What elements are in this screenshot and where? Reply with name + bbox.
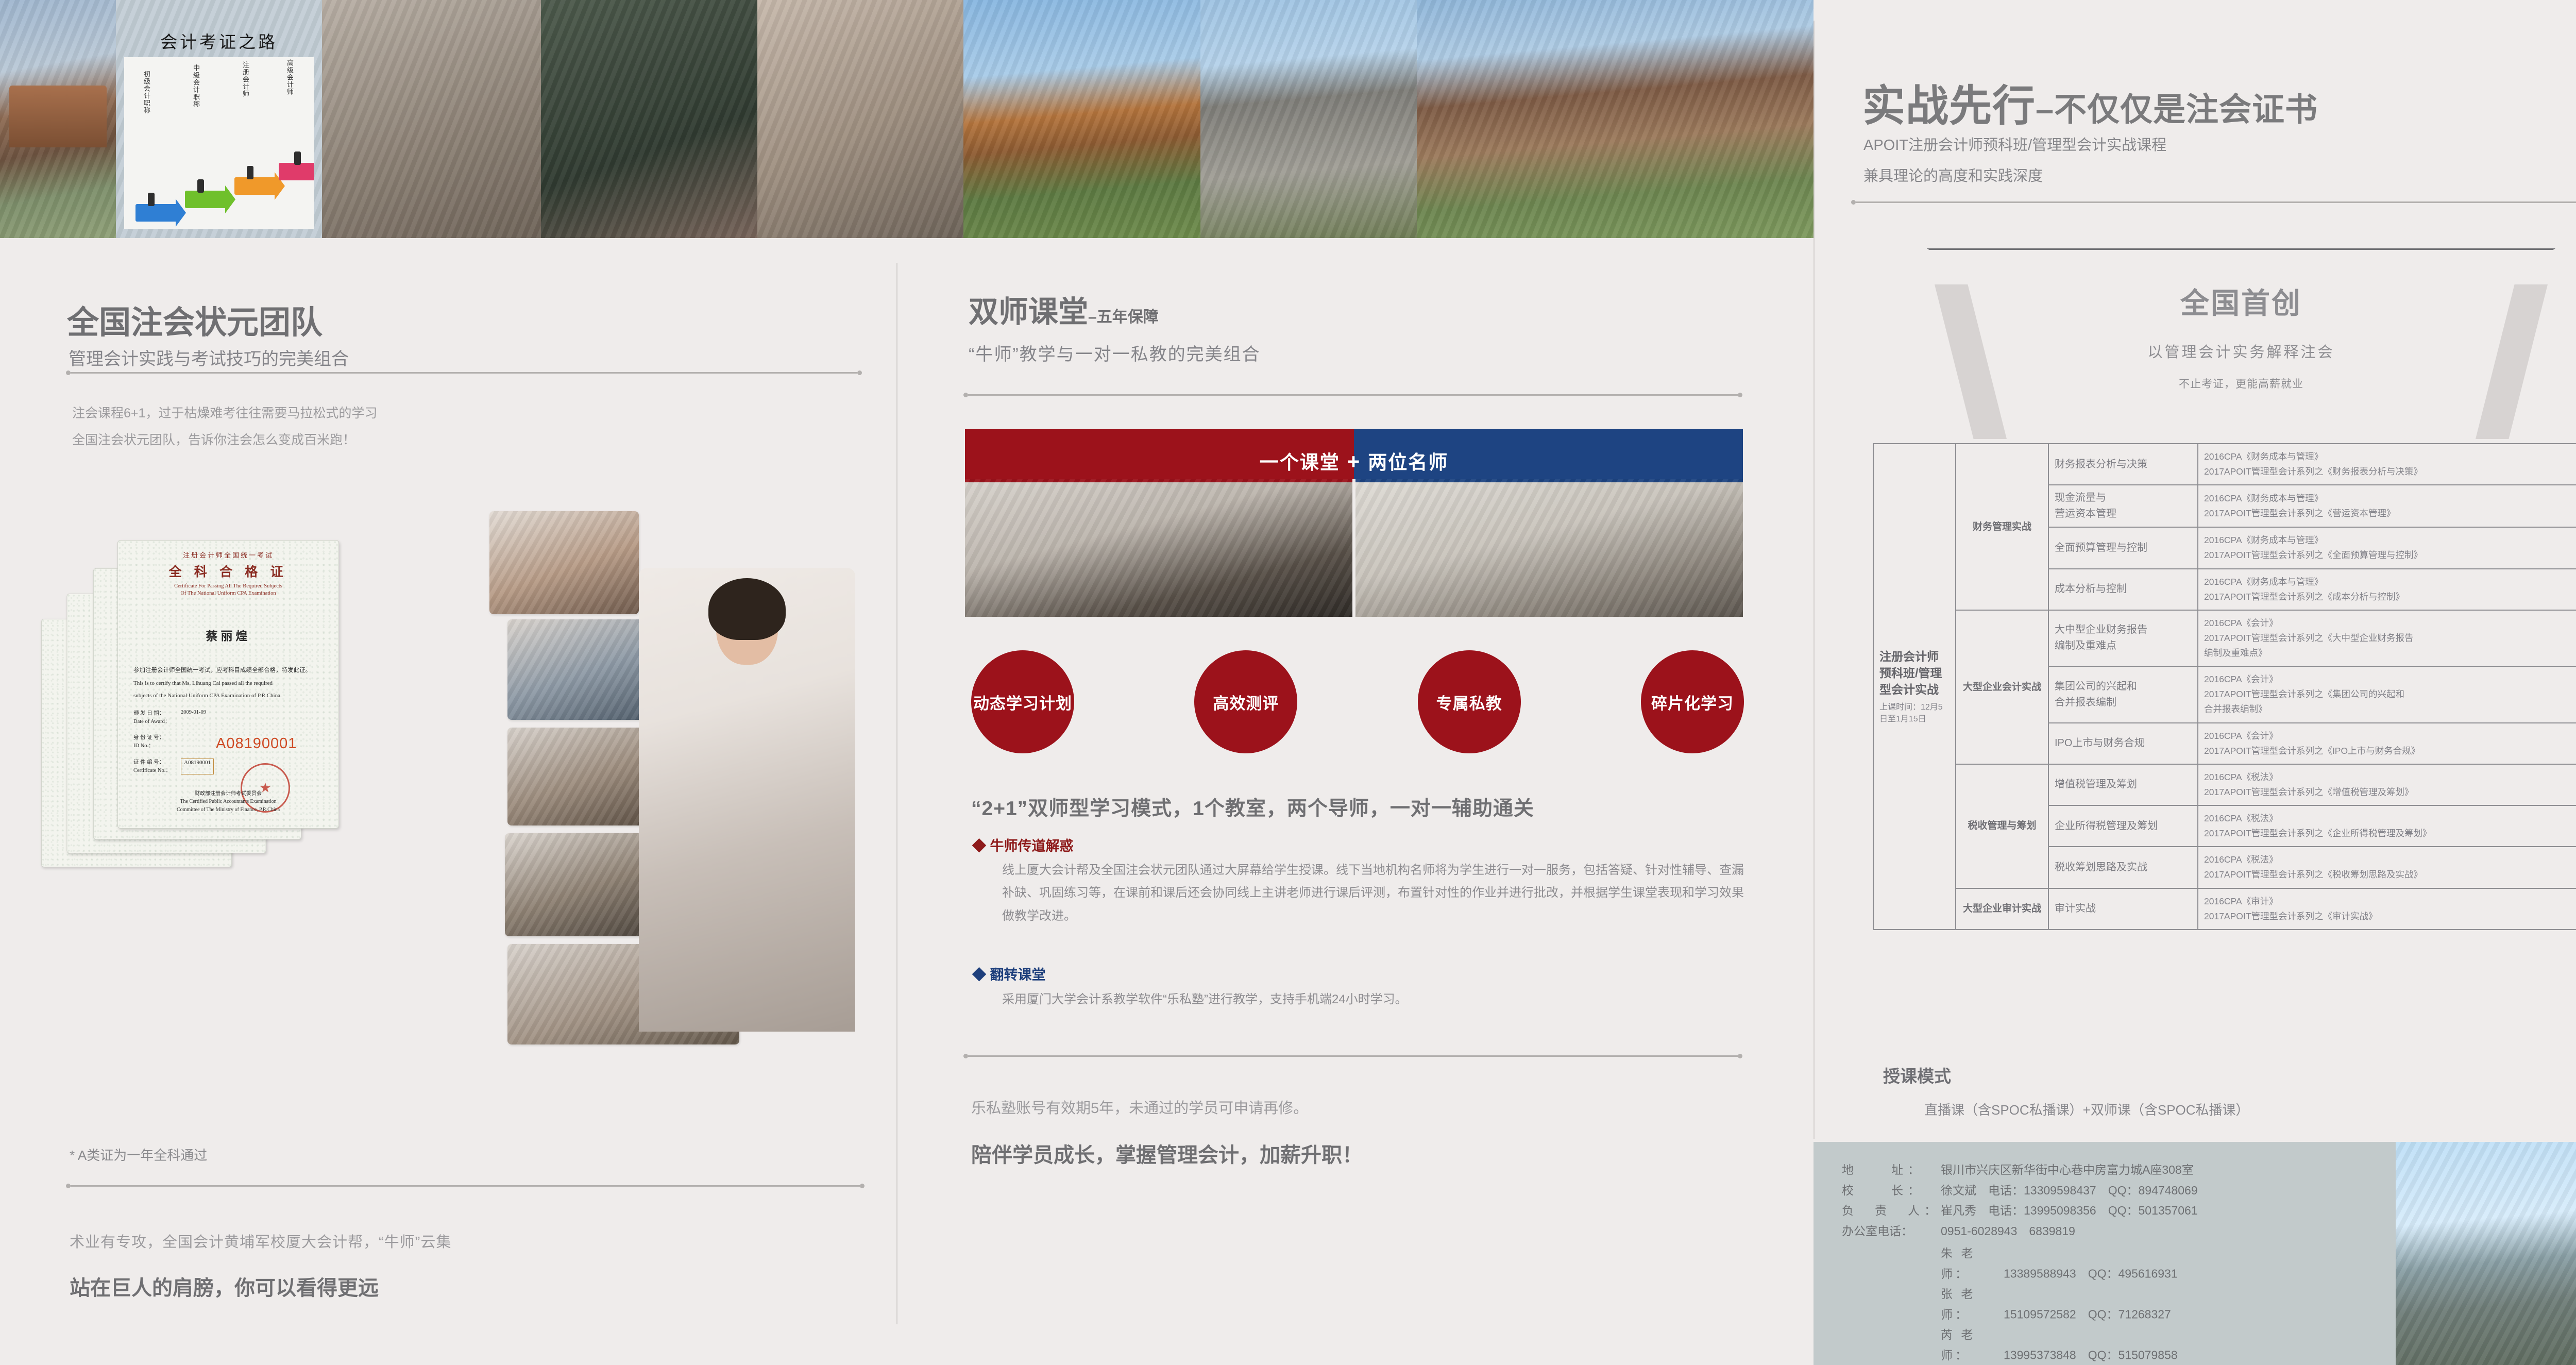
reference-cell: 2016CPA《税法》 2017APOIT管理型会计系列之《企业所得税管理及筹划… bbox=[2198, 805, 2576, 847]
cert-header-en-2: Of The National Uniform CPA Examination bbox=[118, 590, 338, 597]
feature-circle-2: 高效测评 bbox=[1194, 650, 1297, 753]
cert-footer-cn: 财政部注册会计师考试委员会 bbox=[118, 790, 338, 798]
teacher-name: 张 老 师： bbox=[1941, 1284, 2004, 1325]
reference-line: 2016CPA《财务成本与管理》 bbox=[2204, 533, 2576, 547]
cert-header-cn: 注册会计师全国统一考试 bbox=[118, 550, 338, 560]
cert-holder-name: 蔡丽煌 bbox=[118, 626, 338, 644]
topic-cell: 现金流量与 营运资本管理 bbox=[2048, 485, 2198, 527]
funnel-title: 全国首创 bbox=[1891, 280, 2576, 322]
divider-dot-left bbox=[1851, 200, 1856, 205]
table-row: 大型企业审计实战 审计实战 2016CPA《审计》 2017APOIT管理型会计… bbox=[1873, 888, 2576, 930]
classroom-video-right bbox=[1355, 479, 1743, 617]
photo-career-path: 会计考证之路 初级会计职称 中级会计职称 注册会计师 高级会计师 一览众山小 bbox=[116, 0, 322, 238]
runner-figure-2 bbox=[197, 179, 204, 193]
banner-text-left: 一个课堂 bbox=[1260, 452, 1340, 473]
reference-line: 2016CPA《会计》 bbox=[2204, 672, 2576, 686]
middle-title-main: 双师课堂 bbox=[969, 295, 1088, 329]
photo-classroom-1 bbox=[322, 0, 541, 238]
contact-value-manager: 崔凡秀 电话：13995098356 QQ：501357061 bbox=[1941, 1201, 2198, 1221]
reference-line: 2016CPA《财务成本与管理》 bbox=[2204, 450, 2576, 464]
reference-line: 2017APOIT管理型会计系列之《成本分析与控制》 bbox=[2204, 590, 2576, 604]
divider-dot-right bbox=[1738, 393, 1742, 397]
contact-value-principal: 徐文斌 电话：13309598437 QQ：894748069 bbox=[1941, 1181, 2198, 1201]
middle-lead-text: “2+1”双师型学习模式，1个教室，两个导师，一对一辅助通关 bbox=[971, 793, 1534, 821]
topic-cell: 全面预算管理与控制 bbox=[2048, 527, 2198, 568]
topic-line: 营运资本管理 bbox=[2055, 506, 2192, 522]
teacher-photo-2 bbox=[507, 619, 644, 720]
cert-footer-en-2: Committee of The Ministry of Finance, P.… bbox=[118, 806, 338, 814]
cert-id-number: A08190001 bbox=[216, 735, 297, 752]
cert-title-cn: 全 科 合 格 证 bbox=[118, 562, 338, 580]
cert-date-value: 2009-01-09 bbox=[181, 710, 206, 726]
topic-cell: 审计实战 bbox=[2048, 888, 2198, 930]
cert-date-label-en: Date of Award： bbox=[133, 719, 170, 724]
cert-date-field: 颁 发 日 期： Date of Award： 2009-01-09 bbox=[133, 710, 323, 726]
reference-line: 2017APOIT管理型会计系列之《增值税管理及筹划》 bbox=[2204, 785, 2576, 799]
divider-dot-right bbox=[860, 1184, 865, 1188]
divider-dot-left bbox=[963, 393, 968, 397]
reference-line: 2016CPA《财务成本与管理》 bbox=[2204, 575, 2576, 589]
topic-cell: 大中型企业财务报告 编制及重难点 bbox=[2048, 610, 2198, 666]
cert-no-labels: 证 件 编 号： Certificate No.： bbox=[133, 759, 181, 775]
headline: 实战先行–不仅仅是注会证书 bbox=[1862, 71, 2318, 133]
cert-date-label-cn: 颁 发 日 期： bbox=[133, 711, 164, 716]
divider-dot-left bbox=[963, 1054, 968, 1058]
teacher-photo-4 bbox=[505, 833, 644, 936]
video-accent-bar bbox=[1355, 479, 1743, 482]
teacher-photo-1 bbox=[489, 511, 639, 614]
reference-line: 2017APOIT管理型会计系列之《税收筹划思路及实战》 bbox=[2204, 868, 2576, 882]
course-table: 注册会计师预科班/管理型会计实战 上课时间：12月5日至1月15日 财务管理实战… bbox=[1873, 443, 2576, 930]
contact-block: 地 址： 银川市兴庆区新华街中心巷中房富力城A座308室 校 长： 徐文斌 电话… bbox=[1814, 1142, 2396, 1365]
reference-line: 合并报表编制》 bbox=[2204, 702, 2576, 716]
headline-line-1: APOIT注册会计师预科班/管理型会计实战课程 bbox=[1863, 133, 2166, 155]
reference-cell: 2016CPA《税法》 2017APOIT管理型会计系列之《增值税管理及筹划》 bbox=[2198, 764, 2576, 805]
top-photo-banner: 会计考证之路 初级会计职称 中级会计职称 注册会计师 高级会计师 一览众山小 bbox=[0, 0, 1814, 238]
certificate-front: 注册会计师全国统一考试 全 科 合 格 证 Certificate For Pa… bbox=[117, 540, 339, 829]
divider-dot-right bbox=[1738, 1054, 1742, 1058]
funnel-line-1: 以管理会计实务解释注会 bbox=[1891, 340, 2576, 362]
divider-left-bottom bbox=[66, 1184, 865, 1188]
career-path-title: 会计考证之路 bbox=[116, 0, 322, 57]
topic-line: 编制及重难点 bbox=[2055, 638, 2192, 654]
table-row: 注册会计师预科班/管理型会计实战 上课时间：12月5日至1月15日 财务管理实战… bbox=[1873, 444, 2576, 485]
banner-text-right: 两位名师 bbox=[1368, 452, 1448, 473]
reference-cell: 2016CPA《税法》 2017APOIT管理型会计系列之《税收筹划思路及实战》 bbox=[2198, 847, 2576, 888]
bullet-body-2: 采用厦门大学会计系教学软件“乐私塾”进行教学，支持手机端24小时学习。 bbox=[1002, 988, 1744, 1011]
cert-date-labels: 颁 发 日 期： Date of Award： bbox=[133, 710, 181, 726]
bullet-body-1: 线上厦大会计帮及全国注会状元团队通过大屏幕给学生授课。线下当地机构名师将为学生进… bbox=[1002, 859, 1744, 928]
contact-row-address: 地 址： 银川市兴庆区新华街中心巷中房富力城A座308室 bbox=[1842, 1160, 2396, 1181]
cert-no-label-en: Certificate No.： bbox=[133, 768, 171, 773]
reference-line: 2016CPA《税法》 bbox=[2204, 770, 2576, 784]
reference-cell: 2016CPA《财务成本与管理》 2017APOIT管理型会计系列之《营运资本管… bbox=[2198, 485, 2576, 527]
left-title: 全国注会状元团队 bbox=[67, 296, 323, 343]
contact-value-office: 0951-6028943 6839819 bbox=[1941, 1221, 2075, 1242]
reference-line: 2016CPA《审计》 bbox=[2204, 895, 2576, 908]
photo-classroom-3 bbox=[757, 0, 963, 238]
contact-label-manager: 负 责 人： bbox=[1842, 1201, 1941, 1221]
funnel-graphic: 全国首创 以管理会计实务解释注会 不止考证，更能高薪就业 bbox=[1891, 248, 2576, 465]
teacher-contact: 13389588943 QQ：495616931 bbox=[2004, 1267, 2178, 1280]
topic-cell: 成本分析与控制 bbox=[2048, 569, 2198, 610]
runner-figure-3 bbox=[247, 166, 253, 179]
headline-sub: –不仅仅是注会证书 bbox=[2036, 92, 2318, 128]
reference-line: 2016CPA《财务成本与管理》 bbox=[2204, 492, 2576, 505]
career-path-graphic: 初级会计职称 中级会计职称 注册会计师 高级会计师 一览众山小 bbox=[124, 57, 314, 229]
reference-line: 2017APOIT管理型会计系列之《大中型企业财务报告 bbox=[2204, 631, 2576, 645]
cert-body-cn: 参加注册会计师全国统一考试，应考科目成绩全部合格，特发此证。 bbox=[133, 665, 323, 677]
teacher-photo-collage bbox=[330, 511, 850, 1068]
category-cell-4: 大型企业审计实战 bbox=[1956, 888, 2048, 930]
teacher-contact: 15109572582 QQ：71268327 bbox=[2004, 1308, 2171, 1321]
reference-cell: 2016CPA《财务成本与管理》 2017APOIT管理型会计系列之《财务报表分… bbox=[2198, 444, 2576, 485]
cert-footer: 财政部注册会计师考试委员会 The Certified Public Accou… bbox=[118, 790, 338, 814]
middle-title: 双师课堂–五年保障 bbox=[969, 288, 1159, 331]
program-cell: 注册会计师预科班/管理型会计实战 上课时间：12月5日至1月15日 bbox=[1873, 444, 1956, 930]
topic-cell: 企业所得税管理及筹划 bbox=[2048, 805, 2198, 847]
photo-stairs bbox=[1200, 0, 1417, 238]
career-step-label-3: 注册会计师 bbox=[241, 61, 250, 97]
reference-line: 2016CPA《会计》 bbox=[2204, 616, 2576, 630]
cert-id-label-cn: 身 份 证 号： bbox=[133, 735, 164, 740]
teacher-name: 朱 老 师： bbox=[1941, 1243, 2004, 1284]
runner-figure-1 bbox=[148, 193, 155, 206]
runner-figure-4 bbox=[294, 151, 301, 165]
course-table-body: 注册会计师预科班/管理型会计实战 上课时间：12月5日至1月15日 财务管理实战… bbox=[1873, 444, 2576, 930]
cert-id-labels: 身 份 证 号： ID No.： bbox=[133, 734, 181, 750]
middle-paragraph-2: 乐私塾账号有效期5年，未通过的学员可申请再修。 bbox=[971, 1096, 1308, 1118]
career-step-label-4: 高级会计师 bbox=[285, 59, 295, 95]
reference-line: 2017APOIT管理型会计系列之《企业所得税管理及筹划》 bbox=[2204, 827, 2576, 840]
left-paragraph-1: 注会课程6+1，过于枯燥难考往往需要马拉松式的学习 bbox=[72, 403, 377, 422]
contact-row-manager: 负 责 人： 崔凡秀 电话：13995098356 QQ：501357061 bbox=[1842, 1201, 2396, 1221]
video-accent-bar bbox=[965, 479, 1352, 482]
reference-cell: 2016CPA《审计》 2017APOIT管理型会计系列之《审计实战》 bbox=[2198, 888, 2576, 930]
program-name: 注册会计师预科班/管理型会计实战 bbox=[1879, 650, 1942, 696]
table-row: 税收管理与筹划 增值税管理及筹划 2016CPA《税法》 2017APOIT管理… bbox=[1873, 764, 2576, 805]
career-step-label-1: 初级会计职称 bbox=[142, 71, 151, 114]
topic-line: 现金流量与 bbox=[2055, 490, 2192, 506]
middle-tagline: 陪伴学员成长，掌握管理会计，加薪升职！ bbox=[971, 1138, 1363, 1168]
divider-line bbox=[71, 1185, 860, 1187]
reference-cell: 2016CPA《财务成本与管理》 2017APOIT管理型会计系列之《全面预算管… bbox=[2198, 527, 2576, 568]
banner-text: 一个课堂+两位名师 bbox=[965, 447, 1743, 475]
arrow-step-4 bbox=[279, 163, 314, 180]
contact-row-principal: 校 长： 徐文斌 电话：13309598437 QQ：894748069 bbox=[1842, 1181, 2396, 1201]
left-footnote: * A类证为一年全科通过 bbox=[70, 1145, 207, 1164]
topic-cell: IPO上市与财务合规 bbox=[2048, 723, 2198, 764]
list-item: 朱 老 师：13389588943 QQ：495616931 bbox=[1941, 1243, 2396, 1284]
contact-label-principal: 校 长： bbox=[1842, 1181, 1941, 1201]
topic-line: 合并报表编制 bbox=[2055, 695, 2192, 711]
divider-line bbox=[968, 394, 1738, 396]
reference-line: 2017APOIT管理型会计系列之《审计实战》 bbox=[2204, 909, 2576, 923]
topic-cell: 增值税管理及筹划 bbox=[2048, 764, 2198, 805]
category-cell-3: 税收管理与筹划 bbox=[1956, 764, 2048, 888]
headline-line-2: 兼具理论的高度和实践深度 bbox=[1863, 164, 2043, 186]
teacher-name: 芮 老 师： bbox=[1941, 1325, 2004, 1365]
middle-title-sub: –五年保障 bbox=[1088, 309, 1159, 326]
reference-line: 2016CPA《税法》 bbox=[2204, 853, 2576, 867]
headline-main: 实战先行 bbox=[1862, 82, 2036, 130]
list-item: 芮 老 师：13995373848 QQ：515079858 bbox=[1941, 1325, 2396, 1365]
reference-line: 编制及重难点》 bbox=[2204, 646, 2576, 660]
cert-no-value: A08190001 bbox=[181, 759, 214, 775]
topic-cell: 财务报表分析与决策 bbox=[2048, 444, 2198, 485]
divider-dot-left bbox=[66, 1184, 71, 1188]
reference-cell: 2016CPA《会计》 2017APOIT管理型会计系列之《IPO上市与财务合规… bbox=[2198, 723, 2576, 764]
category-cell-1: 财务管理实战 bbox=[1956, 444, 2048, 610]
cert-footer-en-1: The Certified Public Accountants Examina… bbox=[118, 798, 338, 806]
feature-circle-1: 动态学习计划 bbox=[971, 650, 1074, 753]
category-cell-2: 大型企业会计实战 bbox=[1956, 610, 2048, 764]
certificate-stack: 注册会计师全国统一考试 全 科 合 格 证 Certificate For Pa… bbox=[26, 532, 355, 913]
reference-line: 2016CPA《税法》 bbox=[2204, 812, 2576, 825]
photo-temple-2 bbox=[1417, 0, 1814, 238]
reference-line: 2016CPA《会计》 bbox=[2204, 729, 2576, 743]
contact-label-office: 办公室电话： bbox=[1842, 1221, 1941, 1242]
contact-value-address: 银川市兴庆区新华街中心巷中房富力城A座308室 bbox=[1941, 1160, 2194, 1181]
teaching-mode-title: 授课模式 bbox=[1883, 1063, 1951, 1087]
poster-page: 会计考证之路 初级会计职称 中级会计职称 注册会计师 高级会计师 一览众山小 bbox=[0, 0, 2576, 1365]
list-item: 张 老 师：15109572582 QQ：71268327 bbox=[1941, 1284, 2396, 1325]
teacher-contact-list: 朱 老 师：13389588943 QQ：495616931 张 老 师：151… bbox=[1842, 1243, 2396, 1365]
bullet-heading-2: ◆ 翻转课堂 bbox=[972, 964, 1046, 984]
feature-circles: 动态学习计划 高效测评 专属私教 碎片化学习 bbox=[971, 650, 1744, 753]
cert-body-en-1: This is to certify that Ms. Lihuang Cai … bbox=[133, 679, 323, 689]
left-subtitle: 管理会计实践与考试技巧的完美组合 bbox=[69, 345, 349, 370]
photo-temple bbox=[0, 0, 116, 238]
plus-icon: + bbox=[1340, 449, 1368, 474]
photo-classroom-2 bbox=[541, 0, 757, 238]
cert-header-en: Certificate For Passing All The Required… bbox=[118, 583, 338, 597]
left-column: 全国注会状元团队 管理会计实践与考试技巧的完美组合 注会课程6+1，过于枯燥难考… bbox=[0, 238, 896, 1365]
reference-cell: 2016CPA《会计》 2017APOIT管理型会计系列之《大中型企业财务报告 … bbox=[2198, 610, 2576, 666]
middle-column: 双师课堂–五年保障 “牛师”教学与一对一私教的完美组合 一个课堂+两位名师 动态… bbox=[896, 238, 1814, 1365]
teacher-photo-3 bbox=[507, 728, 644, 825]
bullet-heading-1: ◆ 牛师传道解惑 bbox=[972, 835, 1074, 855]
teacher-contact: 13995373848 QQ：515079858 bbox=[2004, 1349, 2178, 1362]
arrow-step-3 bbox=[234, 177, 277, 195]
cert-body-en-2: subjects of the National Uniform CPA Exa… bbox=[133, 691, 323, 701]
divider-left-top bbox=[66, 370, 862, 375]
divider-line bbox=[71, 372, 857, 374]
table-row: 大型企业会计实战 大中型企业财务报告 编制及重难点 2016CPA《会计》 20… bbox=[1873, 610, 2576, 666]
reference-cell: 2016CPA《财务成本与管理》 2017APOIT管理型会计系列之《成本分析与… bbox=[2198, 569, 2576, 610]
cert-id-label-en: ID No.： bbox=[133, 743, 154, 749]
feature-circle-3: 专属私教 bbox=[1418, 650, 1521, 753]
topic-line: 大中型企业财务报告 bbox=[2055, 622, 2192, 638]
middle-subtitle: “牛师”教学与一对一私教的完美组合 bbox=[969, 340, 1261, 365]
photo-building-bottom bbox=[2396, 1142, 2576, 1365]
divider-middle-top bbox=[963, 393, 1742, 397]
topic-line: 集团公司的兴起和 bbox=[2055, 679, 2192, 695]
divider-dot-right bbox=[857, 370, 862, 375]
dual-teacher-banner: 一个课堂+两位名师 bbox=[965, 429, 1743, 479]
teaching-mode-body: 直播课（含SPOC私播课）+双师课（含SPOC私播课） bbox=[1924, 1100, 2249, 1119]
funnel-line-2: 不止考证，更能高薪就业 bbox=[1891, 376, 2576, 391]
cert-header-en-1: Certificate For Passing All The Required… bbox=[118, 583, 338, 590]
reference-line: 2017APOIT管理型会计系列之《财务报表分析与决策》 bbox=[2204, 465, 2576, 479]
featured-teacher-photo bbox=[639, 568, 855, 1032]
reference-line: 2017APOIT管理型会计系列之《IPO上市与财务合规》 bbox=[2204, 744, 2576, 758]
left-tagline: 站在巨人的肩膀，你可以看得更远 bbox=[70, 1271, 379, 1301]
divider-line bbox=[968, 1055, 1738, 1057]
divider-right-header bbox=[1851, 200, 2576, 204]
topic-cell: 税收筹划思路及实战 bbox=[2048, 847, 2198, 888]
divider-middle-bottom bbox=[963, 1054, 1742, 1058]
contact-label-address: 地 址： bbox=[1842, 1160, 1941, 1181]
reference-line: 2017APOIT管理型会计系列之《营运资本管理》 bbox=[2204, 507, 2576, 520]
classroom-video-left bbox=[965, 479, 1352, 617]
left-paragraph-3: 术业有专攻，全国会计黄埔军校厦大会计帮，“牛师”云集 bbox=[70, 1230, 451, 1252]
program-date: 上课时间：12月5日至1月15日 bbox=[1879, 702, 1950, 725]
feature-circle-4: 碎片化学习 bbox=[1641, 650, 1744, 753]
left-paragraph-2: 全国注会状元团队，告诉你注会怎么变成百米跑！ bbox=[72, 430, 355, 448]
arrow-step-1 bbox=[135, 204, 178, 222]
cert-no-label-cn: 证 件 编 号： bbox=[133, 760, 164, 765]
reference-line: 2017APOIT管理型会计系列之《集团公司的兴起和 bbox=[2204, 687, 2576, 701]
contact-row-office: 办公室电话： 0951-6028943 6839819 bbox=[1842, 1221, 2396, 1242]
reference-line: 2017APOIT管理型会计系列之《全面预算管理与控制》 bbox=[2204, 548, 2576, 562]
photo-campus bbox=[963, 0, 1200, 238]
career-step-label-2: 中级会计职称 bbox=[191, 64, 201, 108]
topic-cell: 集团公司的兴起和 合并报表编制 bbox=[2048, 666, 2198, 722]
arrow-step-2 bbox=[185, 191, 227, 208]
divider-dot-left bbox=[66, 370, 71, 375]
cert-no-field: 证 件 编 号： Certificate No.： A08190001 bbox=[133, 759, 323, 775]
reference-cell: 2016CPA《会计》 2017APOIT管理型会计系列之《集团公司的兴起和 合… bbox=[2198, 666, 2576, 722]
divider-line bbox=[1856, 201, 2576, 203]
